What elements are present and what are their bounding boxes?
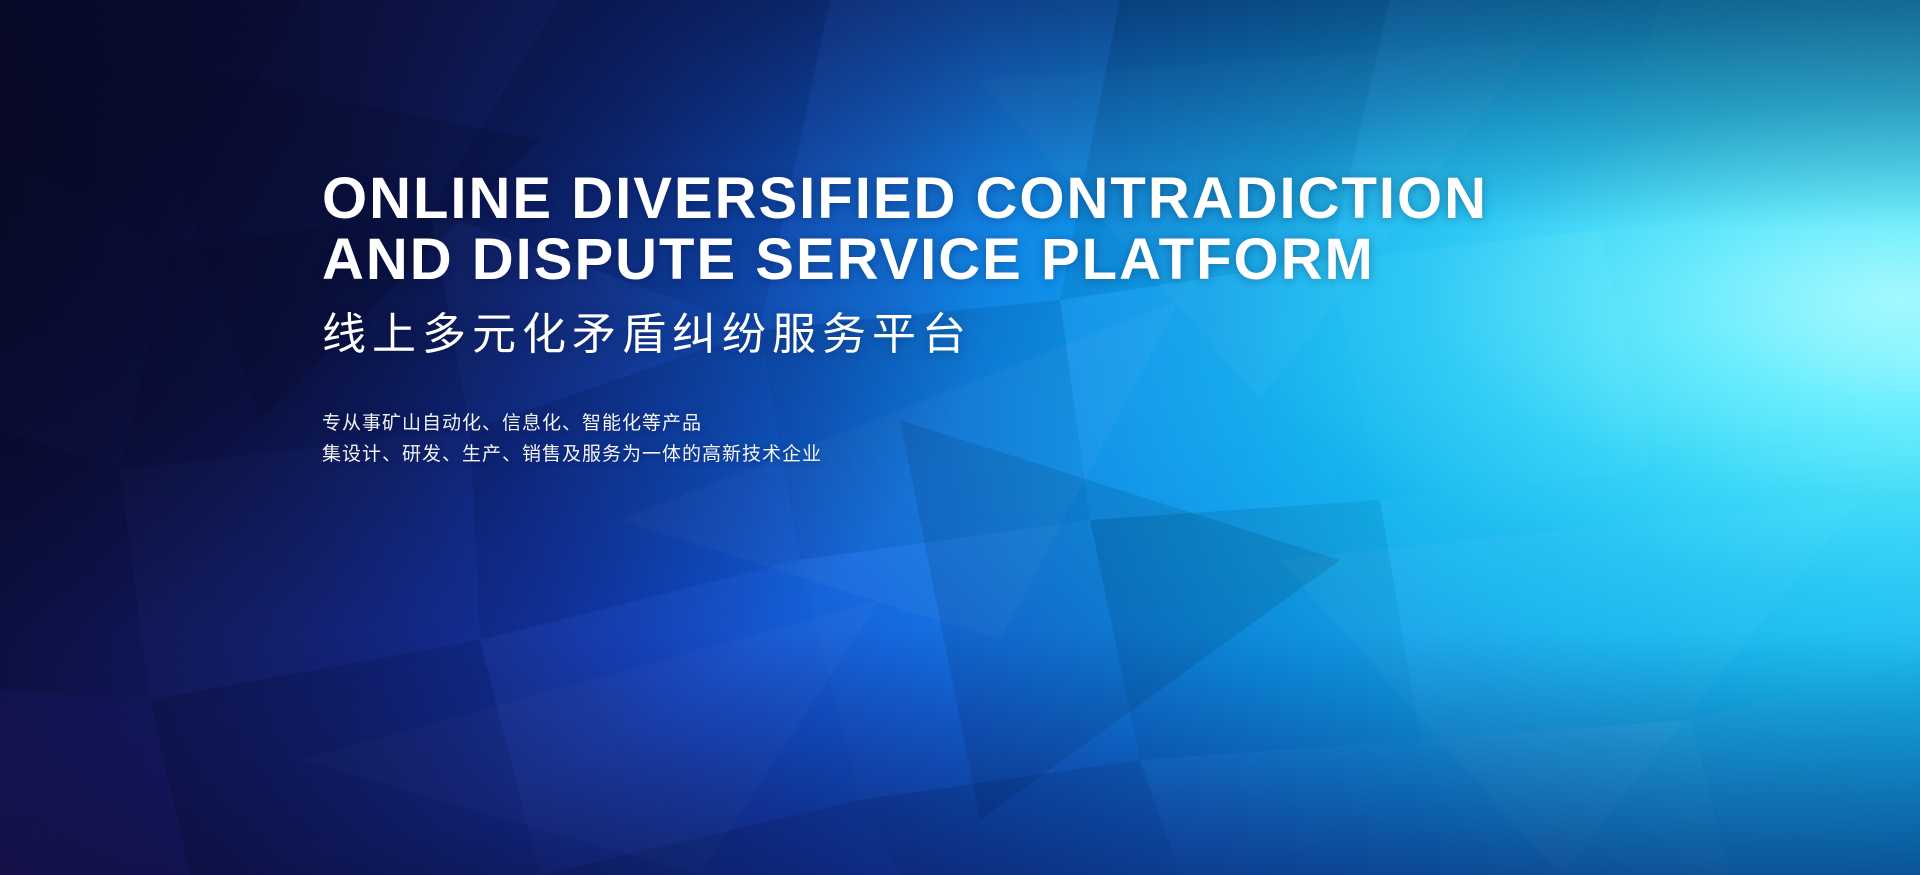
description-line-2: 集设计、研发、生产、销售及服务为一体的高新技术企业 xyxy=(322,439,1662,470)
headline-line-2: AND DISPUTE SERVICE PLATFORM xyxy=(322,229,1662,290)
subtitle-chinese: 线上多元化矛盾纠纷服务平台 xyxy=(322,307,1662,363)
description-line-1: 专从事矿山自动化、信息化、智能化等产品 xyxy=(322,408,1662,439)
description-block: 专从事矿山自动化、信息化、智能化等产品 集设计、研发、生产、销售及服务为一体的高… xyxy=(322,408,1662,470)
headline-line-1: ONLINE DIVERSIFIED CONTRADICTION xyxy=(322,168,1662,229)
hero-content: ONLINE DIVERSIFIED CONTRADICTION AND DIS… xyxy=(322,168,1662,470)
page-title: ONLINE DIVERSIFIED CONTRADICTION AND DIS… xyxy=(322,168,1662,290)
hero-banner: ONLINE DIVERSIFIED CONTRADICTION AND DIS… xyxy=(0,0,1920,875)
